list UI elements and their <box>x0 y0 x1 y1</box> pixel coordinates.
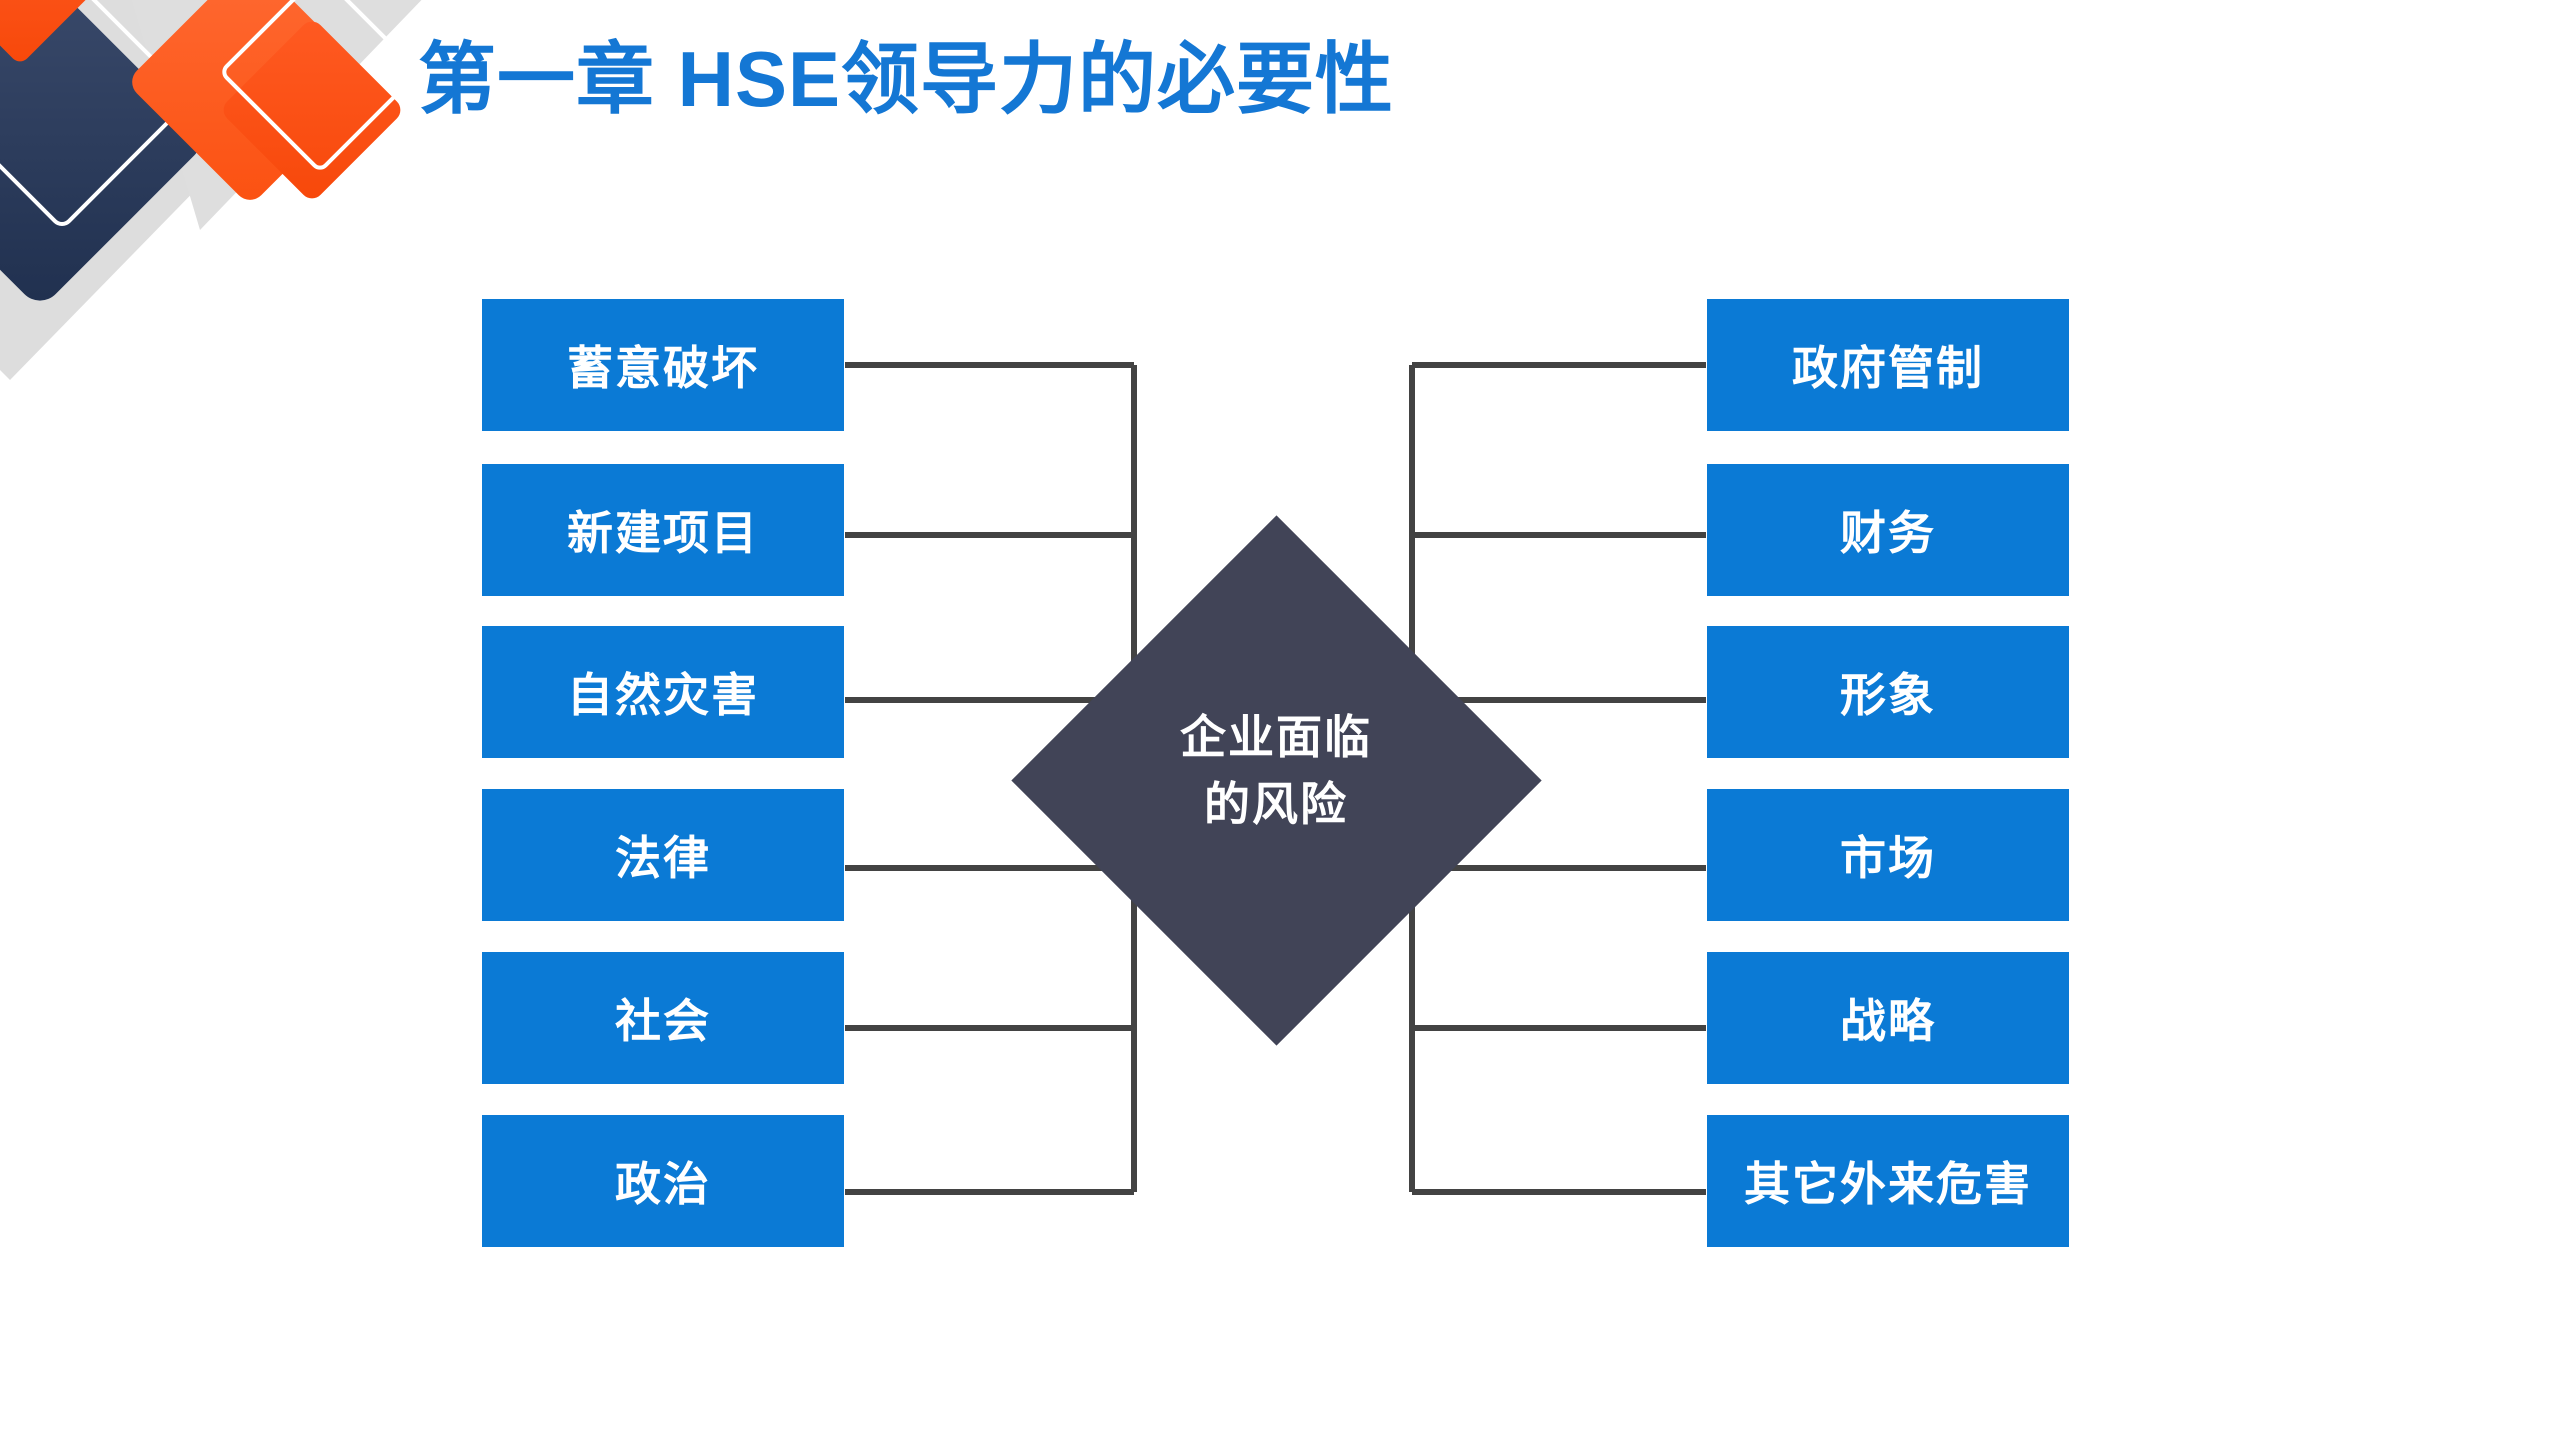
hub-label-line2: 的风险 <box>1204 771 1348 838</box>
hub-label: 企业面临 的风险 <box>1011 515 1541 1045</box>
risk-node-label: 自然灾害 <box>567 659 759 725</box>
slide-canvas: 第一章 HSE领导力的必要性 蓄意破坏 新建项目 自然灾害 法律 社会 政 <box>0 0 2560 1440</box>
risk-node-label: 市场 <box>1840 822 1936 888</box>
risk-node-right-3[interactable]: 形象 <box>1707 626 2069 758</box>
risk-node-label: 战略 <box>1840 985 1936 1051</box>
risk-node-label: 其它外来危害 <box>1744 1148 2032 1214</box>
risk-node-label: 新建项目 <box>567 497 759 563</box>
risk-node-label: 法律 <box>615 822 711 888</box>
risk-node-left-2[interactable]: 新建项目 <box>482 464 844 596</box>
risk-node-left-5[interactable]: 社会 <box>482 952 844 1084</box>
risk-node-label: 政府管制 <box>1792 332 1984 398</box>
risk-node-right-4[interactable]: 市场 <box>1707 789 2069 921</box>
risk-node-label: 蓄意破坏 <box>567 332 759 398</box>
risk-node-label: 社会 <box>615 985 711 1051</box>
risk-node-label: 形象 <box>1840 659 1936 725</box>
risk-node-right-5[interactable]: 战略 <box>1707 952 2069 1084</box>
risk-node-left-4[interactable]: 法律 <box>482 789 844 921</box>
risk-node-right-6[interactable]: 其它外来危害 <box>1707 1115 2069 1247</box>
central-hub[interactable]: 企业面临 的风险 <box>1011 515 1541 1045</box>
risk-node-left-6[interactable]: 政治 <box>482 1115 844 1247</box>
risk-node-right-1[interactable]: 政府管制 <box>1707 299 2069 431</box>
risk-node-right-2[interactable]: 财务 <box>1707 464 2069 596</box>
risk-node-left-3[interactable]: 自然灾害 <box>482 626 844 758</box>
risk-node-label: 政治 <box>615 1148 711 1214</box>
risk-node-left-1[interactable]: 蓄意破坏 <box>482 299 844 431</box>
hub-label-line1: 企业面临 <box>1180 704 1372 771</box>
risk-node-label: 财务 <box>1840 497 1936 563</box>
